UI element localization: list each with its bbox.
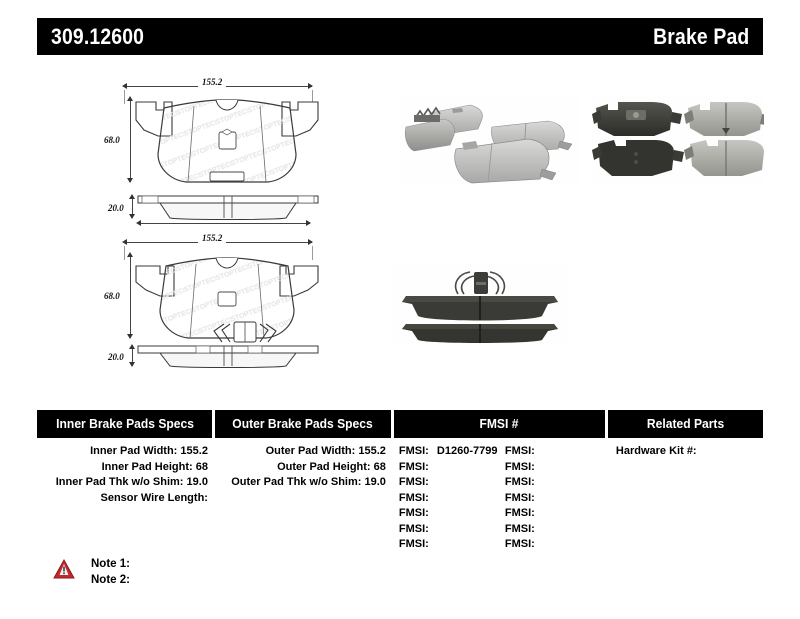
inner-pad-face-drawing: 155.2 68.0 STOPTECH	[118, 72, 318, 184]
outer-pad-edge-drawing: 20.0	[118, 342, 318, 376]
fmsi-row: FMSI:	[499, 475, 605, 491]
fmsi-row: FMSI:	[499, 522, 605, 538]
fmsi-row: FMSI:	[499, 444, 605, 460]
spec-row: Inner Pad Thk w/o Shim: 19.0	[37, 475, 212, 491]
spec-row: Sensor Wire Length:	[37, 491, 212, 507]
inner-height-dim-line	[130, 98, 131, 182]
table-body: Inner Pad Width: 155.2 Inner Pad Height:…	[37, 444, 763, 553]
dim-arrow-down	[129, 362, 135, 367]
dim-arrow-up	[127, 252, 133, 257]
fmsi-subcolumn-right: FMSI: FMSI: FMSI: FMSI: FMSI: FMSI:	[499, 444, 605, 553]
related-parts-column: Hardware Kit #:	[608, 444, 763, 553]
fmsi-row: FMSI:	[393, 491, 499, 507]
warning-triangle-icon	[53, 559, 75, 579]
outer-height-dim-line	[130, 254, 131, 338]
fmsi-row: FMSI:	[393, 475, 499, 491]
inner-width-dim-text: 155.2	[198, 77, 226, 87]
dim-arrow-right	[308, 239, 313, 245]
spec-row: Outer Pad Thk w/o Shim: 19.0	[215, 475, 390, 491]
outer-height-dim-text: 68.0	[102, 290, 122, 302]
inner-thk-dim-text: 20.0	[106, 202, 126, 214]
fmsi-row: FMSI:	[499, 506, 605, 522]
dim-arrow-right	[306, 220, 311, 226]
fmsi-row: FMSI: D1260-7799	[393, 444, 499, 460]
notes-text: Note 1: Note 2:	[91, 556, 130, 588]
fmsi-row: FMSI:	[499, 491, 605, 507]
dim-arrow-down	[127, 334, 133, 339]
spec-row: Outer Pad Height: 68	[215, 460, 390, 476]
fmsi-row: FMSI:	[393, 522, 499, 538]
fmsi-subcolumn-left: FMSI: D1260-7799 FMSI: FMSI: FMSI: FMSI:…	[393, 444, 499, 553]
fmsi-column: FMSI: D1260-7799 FMSI: FMSI: FMSI: FMSI:…	[393, 444, 605, 553]
product-photo-edge-pads	[392, 266, 568, 344]
header-related-parts: Related Parts	[608, 410, 763, 438]
product-photo-pad-grid	[592, 96, 764, 184]
inner-pad-edge-drawing: 20.0	[118, 192, 318, 226]
outer-pad-edge-outline	[136, 344, 320, 370]
table-header-row: Inner Brake Pads Specs Outer Brake Pads …	[37, 410, 763, 438]
dim-arrow-down	[127, 178, 133, 183]
spec-row: Outer Pad Width: 155.2	[215, 444, 390, 460]
fmsi-row: FMSI:	[393, 460, 499, 476]
header-outer-specs: Outer Brake Pads Specs	[215, 410, 390, 438]
dim-arrow-right	[308, 83, 313, 89]
part-number: 309.12600	[51, 24, 144, 50]
outer-thk-dim-text: 20.0	[106, 351, 126, 363]
inner-edge-width-dim-line	[138, 223, 310, 224]
outer-width-dim-text: 155.2	[198, 233, 226, 243]
ext-line	[124, 90, 125, 104]
fmsi-row: FMSI:	[499, 460, 605, 476]
related-parts-row: Hardware Kit #:	[608, 444, 763, 460]
fmsi-row: FMSI:	[499, 537, 605, 553]
dim-arrow-down	[129, 214, 135, 219]
inner-specs-column: Inner Pad Width: 155.2 Inner Pad Height:…	[37, 444, 212, 553]
inner-pad-outline: STOPTECH	[134, 96, 320, 186]
product-photo-angled-pads	[400, 95, 580, 185]
dim-arrow-up	[127, 96, 133, 101]
spec-row: Inner Pad Height: 68	[37, 460, 212, 476]
note-item: Note 2:	[91, 572, 130, 588]
header-inner-specs: Inner Brake Pads Specs	[37, 410, 212, 438]
ext-line	[124, 246, 125, 260]
note-item: Note 1:	[91, 556, 130, 572]
dim-arrow-up	[129, 344, 135, 349]
fmsi-row: FMSI:	[393, 506, 499, 522]
dim-arrow-left	[122, 83, 127, 89]
spec-row: Inner Pad Width: 155.2	[37, 444, 212, 460]
outer-specs-column: Outer Pad Width: 155.2 Outer Pad Height:…	[215, 444, 390, 553]
dim-arrow-left	[136, 220, 141, 226]
dim-arrow-left	[122, 239, 127, 245]
inner-height-dim-text: 68.0	[102, 134, 122, 146]
dim-arrow-up	[129, 194, 135, 199]
product-type: Brake Pad	[653, 24, 749, 50]
notes-section: Note 1: Note 2:	[53, 556, 130, 588]
inner-pad-edge-outline	[136, 194, 320, 222]
header-fmsi: FMSI #	[394, 410, 605, 438]
header-bar: 309.12600 Brake Pad	[37, 18, 763, 55]
fmsi-row: FMSI:	[393, 537, 499, 553]
spec-table: Inner Brake Pads Specs Outer Brake Pads …	[37, 410, 763, 553]
